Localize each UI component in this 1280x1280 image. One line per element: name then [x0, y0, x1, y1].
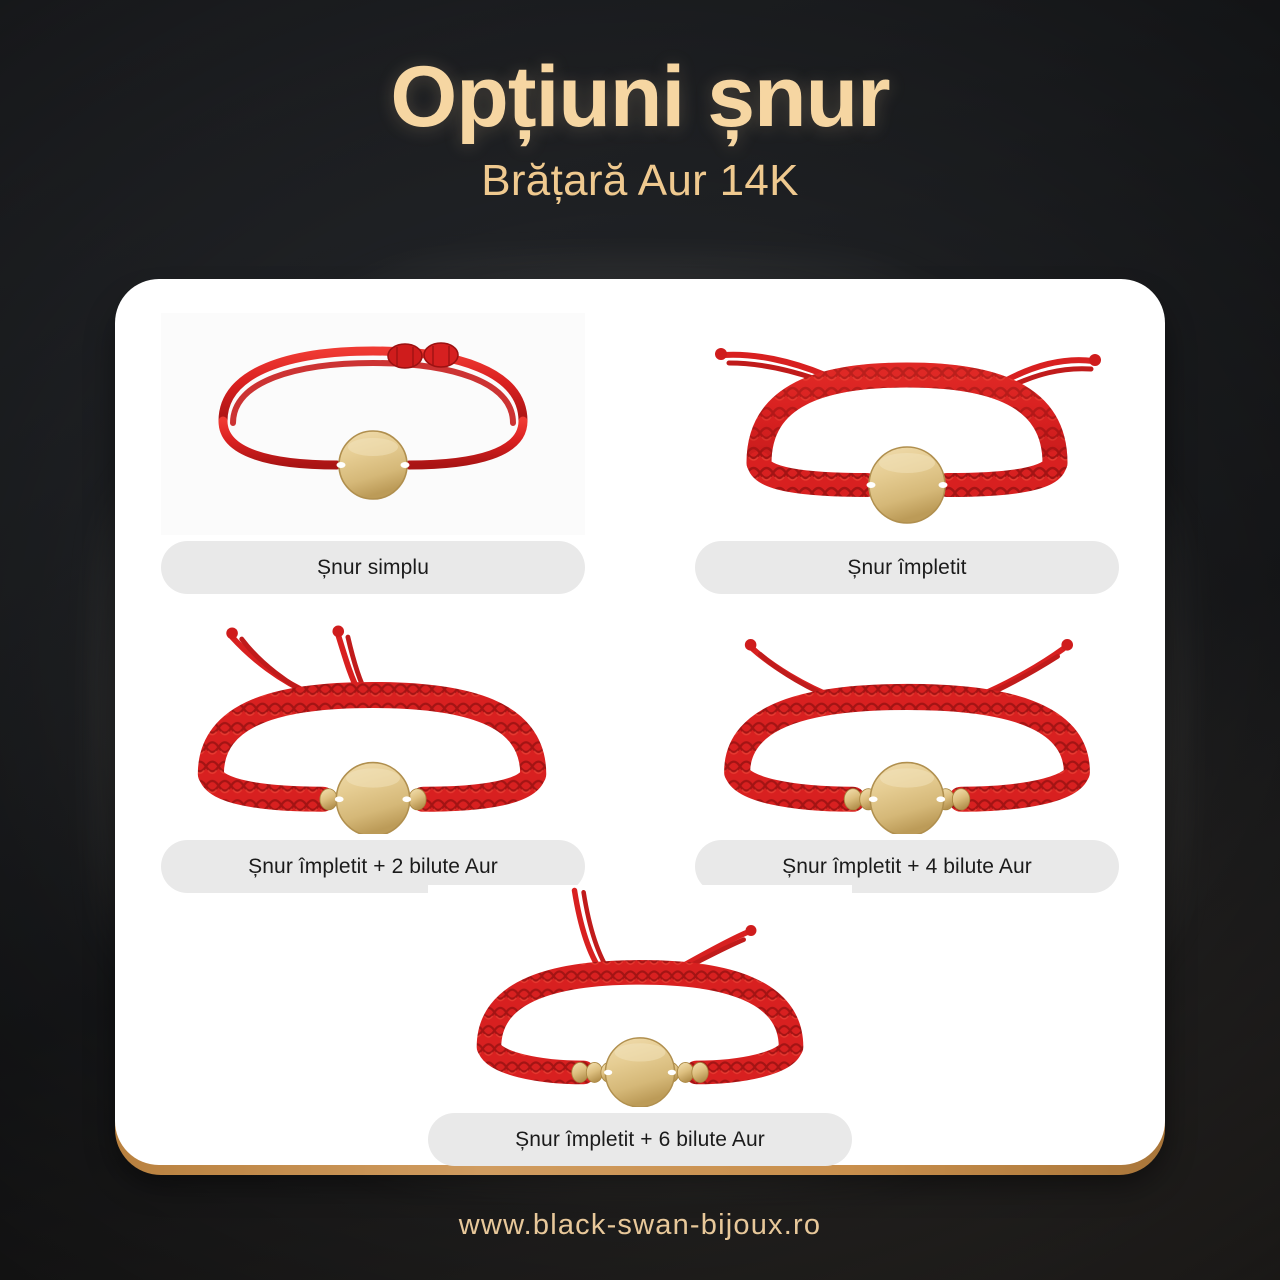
footer: www.black-swan-bijoux.ro — [0, 1209, 1280, 1242]
bracelet-photo-simple — [161, 313, 585, 535]
gold-bead-icon — [320, 789, 337, 810]
gold-bead-icon — [844, 789, 861, 810]
options-card: Șnur simplu — [115, 279, 1165, 1165]
gold-bead-icon — [952, 789, 969, 810]
option-card-3[interactable]: Șnur împletit + 2 bilute Aur — [161, 612, 585, 893]
bracelet-photo-braided-4-beads — [695, 612, 1119, 834]
bracelet-photo-braided-2-beads — [161, 612, 585, 834]
bracelet-simple-illustration — [161, 313, 585, 535]
bracelet-braided-illustration — [695, 313, 1119, 535]
gold-bead-icon — [572, 1062, 588, 1082]
options-grid: Șnur simplu — [115, 279, 1165, 1165]
bracelet-braided-6-beads-illustration — [428, 885, 852, 1107]
bracelet-braided-2-beads-illustration — [161, 612, 585, 834]
options-row-1: Șnur simplu — [161, 313, 1119, 594]
header: Opțiuni șnur Brățară Aur 14K — [0, 52, 1280, 206]
gold-bead-icon — [409, 789, 426, 810]
options-row-3: Șnur împletit + 6 bilute Aur — [161, 885, 1119, 1166]
option-card-2[interactable]: Șnur împletit — [695, 313, 1119, 594]
option-card-5[interactable]: Șnur împletit + 6 bilute Aur — [428, 885, 852, 1166]
option-label-1: Șnur simplu — [161, 541, 585, 594]
gold-bead-icon — [692, 1062, 708, 1082]
bracelet-photo-braided-6-beads — [428, 885, 852, 1107]
option-card-4[interactable]: Șnur împletit + 4 bilute Aur — [695, 612, 1119, 893]
option-card-1[interactable]: Șnur simplu — [161, 313, 585, 594]
gold-bead-icon — [586, 1062, 602, 1082]
gold-bead-icon — [677, 1062, 693, 1082]
option-label-5: Șnur împletit + 6 bilute Aur — [428, 1113, 852, 1166]
page-subtitle: Brățară Aur 14K — [0, 156, 1280, 206]
options-row-2: Șnur împletit + 2 bilute Aur — [161, 612, 1119, 893]
website-url[interactable]: www.black-swan-bijoux.ro — [0, 1209, 1280, 1242]
card-surface: Șnur simplu — [115, 279, 1165, 1165]
page-title: Opțiuni șnur — [0, 52, 1280, 142]
option-label-2: Șnur împletit — [695, 541, 1119, 594]
bracelet-braided-4-beads-illustration — [695, 612, 1119, 834]
bracelet-photo-braided — [695, 313, 1119, 535]
